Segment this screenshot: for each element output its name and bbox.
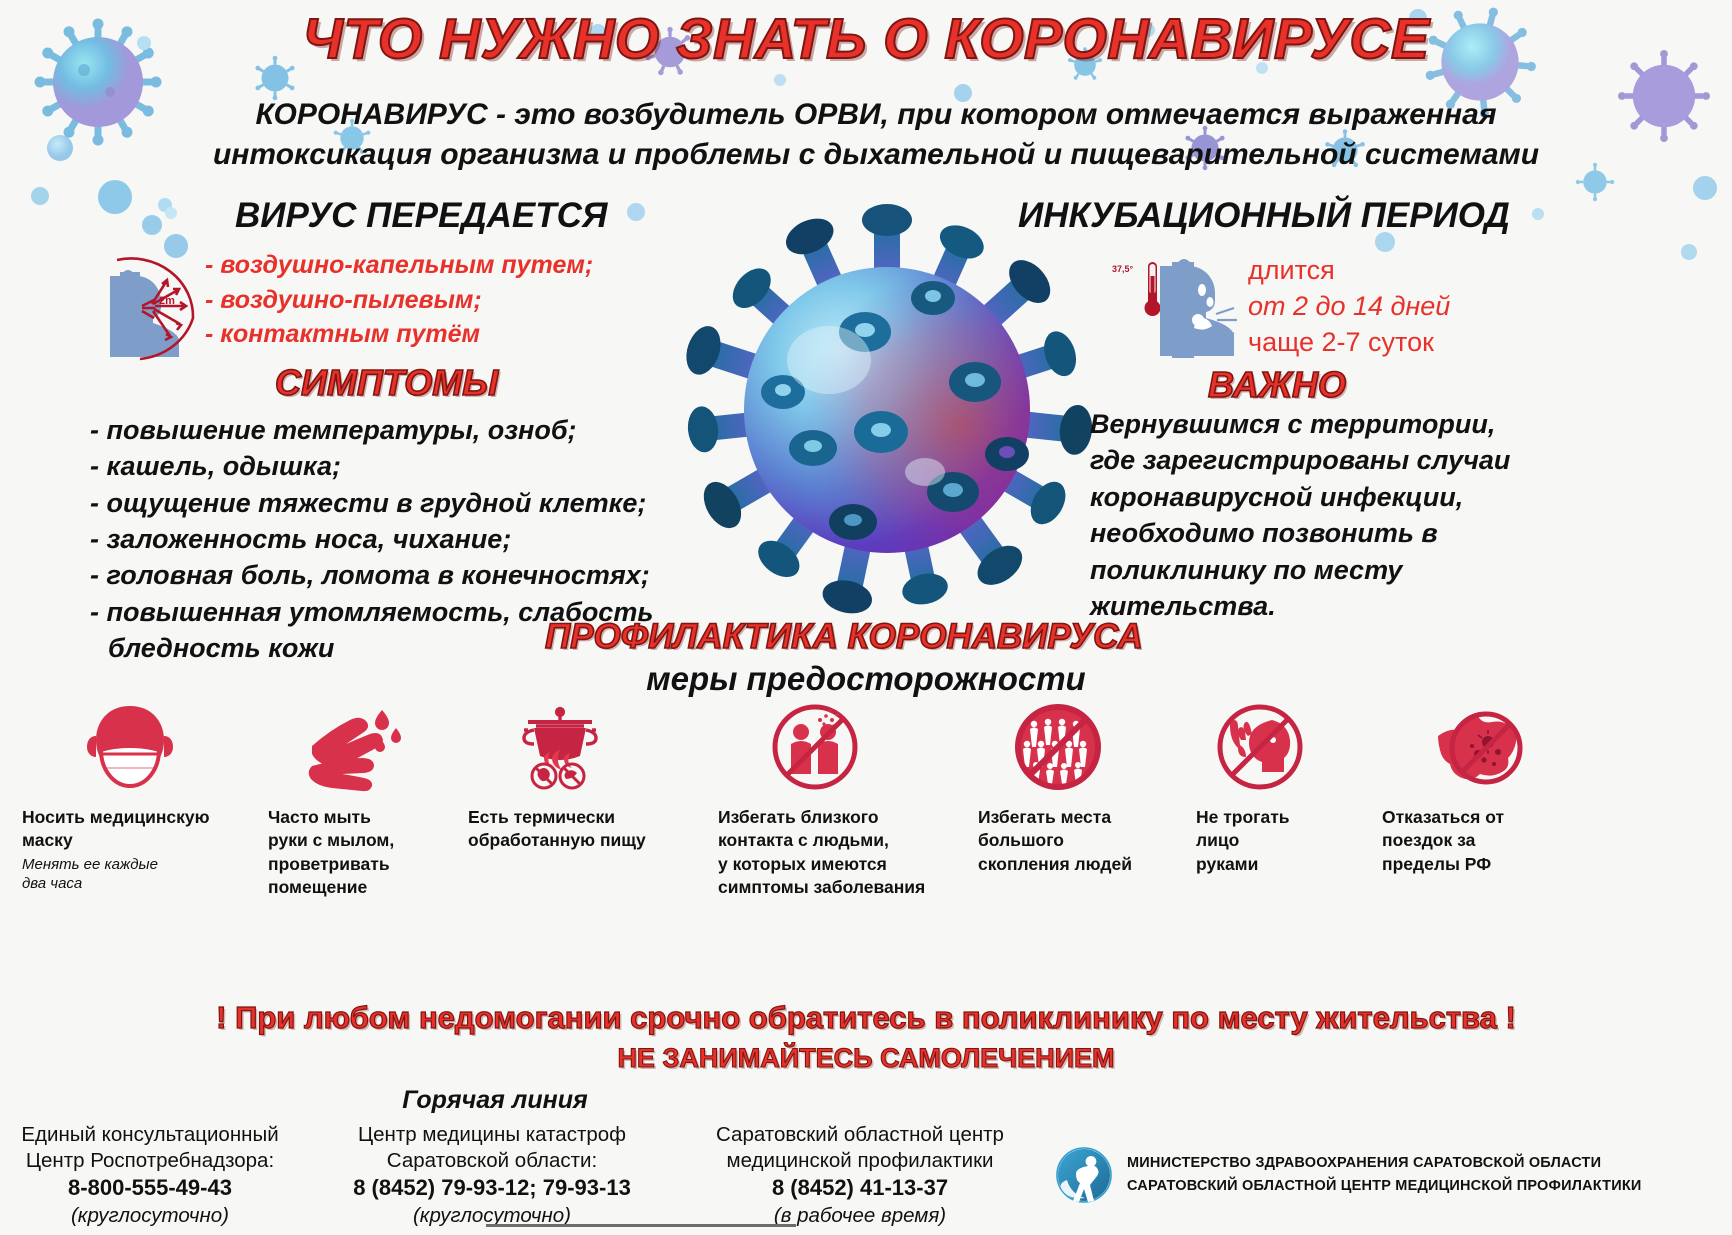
important-text: Вернувшимся с территории, где зарегистри… [1090, 406, 1510, 625]
contact-org-line: Центр Роспотребнадзора: [0, 1148, 300, 1174]
contact-org-line: Единый консультационный [0, 1122, 300, 1148]
ministry-line-1: МИНИСТЕРСТВО ЗДРАВООХРАНЕНИЯ САРАТОВСКОЙ… [1127, 1152, 1642, 1175]
lead-line-2: интоксикация организма и проблемы с дыха… [60, 135, 1692, 175]
no-close-contact-sick-icon [718, 700, 968, 792]
incubation-line-2: от 2 до 14 дней [1248, 289, 1450, 325]
transmission-item: - воздушно-капельным путем; [205, 248, 593, 283]
page-title: ЧТО НУЖНО ЗНАТЬ О КОРОНАВИРУСЕ [0, 6, 1732, 72]
face-mask-icon [22, 700, 252, 792]
no-travel-abroad-map-icon [1382, 700, 1582, 792]
lead-paragraph: КОРОНАВИРУС - это возбудитель ОРВИ, при … [60, 95, 1692, 175]
contact-phone[interactable]: 8 (8452) 41-13-37 [660, 1174, 1060, 1202]
lead-line-1: КОРОНАВИРУС - это возбудитель ОРВИ, при … [60, 95, 1692, 135]
prevention-item-title: Не трогатьлицоруками [1196, 806, 1356, 876]
symptom-item: - ощущение тяжести в грудной клетке; [90, 485, 653, 521]
contact-block-prevention-center: Саратовский областной центр медицинской … [660, 1122, 1060, 1229]
important-line: коронавирусной инфекции, [1090, 479, 1510, 515]
important-line: Вернувшимся с территории, [1090, 406, 1510, 442]
distance-label: 2m [159, 295, 175, 307]
prevention-item-wash-hands: Часто мытьруки с мылом,проветриватьпомещ… [268, 700, 458, 901]
thermometer-value: 37,5° [1112, 264, 1134, 274]
important-line: жительства. [1090, 588, 1510, 624]
symptom-item: - кашель, одышка; [90, 448, 653, 484]
prevention-item-mask: Носить медицинскуюмаску Менять ее каждые… [22, 700, 252, 894]
prevention-item-title: Избегать близкогоконтакта с людьми,у кот… [718, 806, 968, 899]
prevention-item-no-travel: Отказаться отпоездок запределы РФ [1382, 700, 1582, 878]
transmission-heading: ВИРУС ПЕРЕДАЕТСЯ [235, 196, 607, 236]
poster-root: ЧТО НУЖНО ЗНАТЬ О КОРОНАВИРУСЕ КОРОНАВИР… [0, 0, 1732, 1235]
symptom-item: - головная боль, ломота в конечностях; [90, 557, 653, 593]
contact-block-disaster-medicine: Центр медицины катастроф Саратовской обл… [292, 1122, 692, 1229]
incubation-text: длится от 2 до 14 дней чаще 2-7 суток [1248, 253, 1450, 361]
contact-phone[interactable]: 8-800-555-49-43 [0, 1174, 300, 1202]
contact-org-line: медицинской профилактики [660, 1148, 1060, 1174]
contact-block-rospotrebnadzor: Единый консультационный Центр Роспотребн… [0, 1122, 300, 1229]
transmission-item: - воздушно-пылевым; [205, 283, 593, 318]
contact-org-line: Саратовский областной центр [660, 1122, 1060, 1148]
ministry-line-2: САРАТОВСКИЙ ОБЛАСТНОЙ ЦЕНТР МЕДИЦИНСКОЙ … [1127, 1175, 1642, 1198]
prevention-item-title: Носить медицинскуюмаску [22, 806, 252, 853]
cooked-food-pot-icon [468, 700, 698, 792]
ministry-text: МИНИСТЕРСТВО ЗДРАВООХРАНЕНИЯ САРАТОВСКОЙ… [1127, 1152, 1642, 1198]
prevention-item-title: Часто мытьруки с мылом,проветриватьпомещ… [268, 806, 458, 899]
prevention-item-no-crowds: Избегать местабольшогоскопления людей [978, 700, 1178, 878]
warning-line-1: ! При любом недомогании срочно обратитес… [0, 1000, 1732, 1036]
wash-hands-icon [268, 700, 458, 792]
symptom-item: - повышение температуры, озноб; [90, 412, 653, 448]
symptom-item: - заложенность носа, чихание; [90, 521, 653, 557]
prevention-item-title: Есть термическиобработанную пищу [468, 806, 698, 853]
coronavirus-illustration [672, 190, 1102, 630]
contact-hours: (круглосуточно) [0, 1203, 300, 1229]
prevention-subheading: меры предосторожности [0, 660, 1732, 698]
transmission-item: - контактным путём [205, 317, 593, 352]
no-touch-face-icon [1196, 700, 1356, 792]
health-ministry-logo-icon [1055, 1146, 1113, 1204]
prevention-item-title: Отказаться отпоездок запределы РФ [1382, 806, 1582, 876]
prevention-item-no-close-contact: Избегать близкогоконтакта с людьми,у кот… [718, 700, 968, 901]
fever-cough-thermometer-icon: 37,5° [1110, 248, 1270, 368]
footer-divider [486, 1224, 796, 1227]
prevention-item-cooked-food: Есть термическиобработанную пищу [468, 700, 698, 855]
warning-line-2: НЕ ЗАНИМАЙТЕСЬ САМОЛЕЧЕНИЕМ [0, 1043, 1732, 1074]
important-line: необходимо позвонить в [1090, 515, 1510, 551]
prevention-item-no-touch-face: Не трогатьлицоруками [1196, 700, 1356, 878]
important-line: поликлинику по месту [1090, 552, 1510, 588]
symptoms-heading: СИМПТОМЫ [275, 362, 498, 404]
important-heading: ВАЖНО [1208, 364, 1346, 406]
incubation-line-1: длится [1248, 253, 1450, 289]
prevention-item-title: Избегать местабольшогоскопления людей [978, 806, 1178, 876]
incubation-line-3: чаще 2-7 суток [1248, 325, 1450, 361]
contact-phone[interactable]: 8 (8452) 79-93-12; 79-93-13 [292, 1174, 692, 1202]
hotline-label: Горячая линия [330, 1086, 660, 1115]
transmission-list: - воздушно-капельным путем; - воздушно-п… [205, 248, 593, 352]
incubation-heading: ИНКУБАЦИОННЫЙ ПЕРИОД [1018, 196, 1510, 236]
prevention-heading: ПРОФИЛАКТИКА КОРОНАВИРУСА [545, 617, 1143, 657]
important-line: где зарегистрированы случаи [1090, 442, 1510, 478]
no-crowds-icon [978, 700, 1178, 792]
contact-org-line: Центр медицины катастроф [292, 1122, 692, 1148]
prevention-item-note: Менять ее каждыедва часа [22, 855, 252, 894]
ministry-block: МИНИСТЕРСТВО ЗДРАВООХРАНЕНИЯ САРАТОВСКОЙ… [1055, 1146, 1642, 1204]
contact-org-line: Саратовской области: [292, 1148, 692, 1174]
